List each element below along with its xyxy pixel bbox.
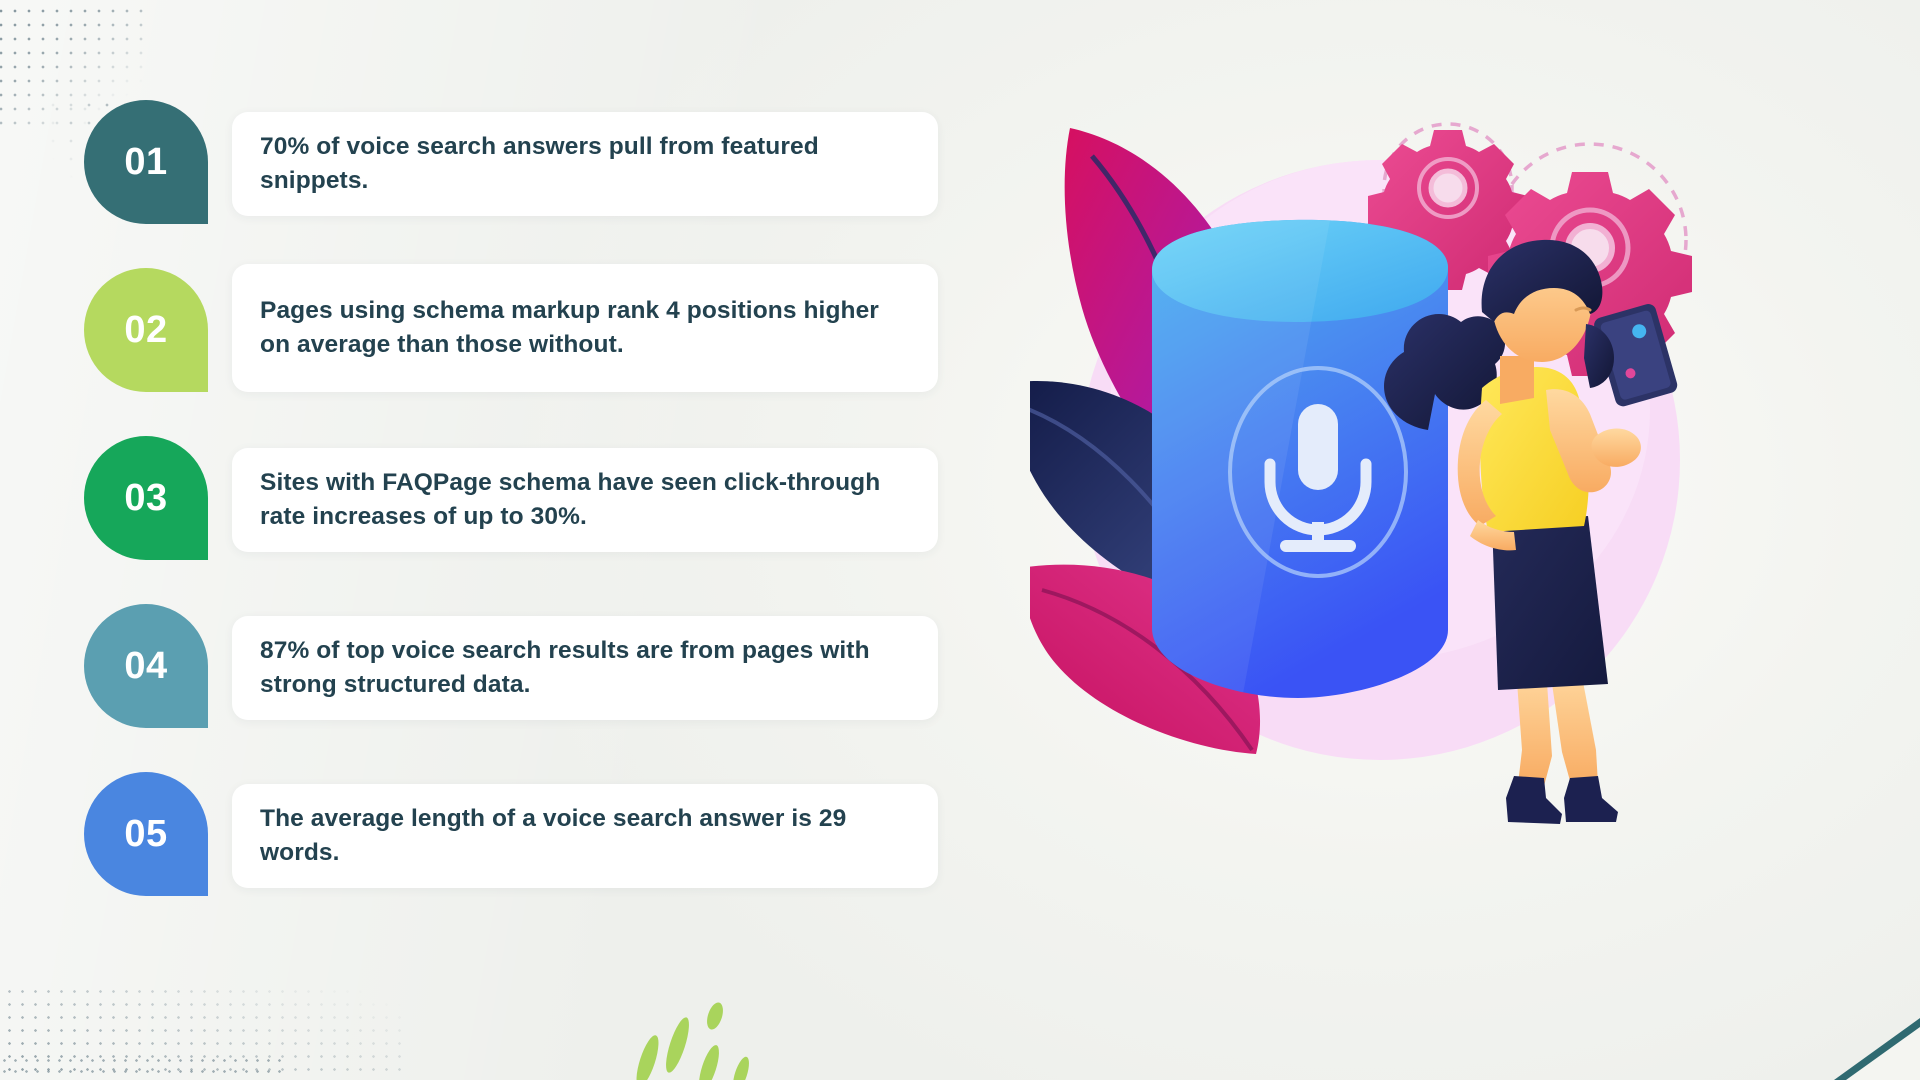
list-item-text: 70% of voice search answers pull from fe… <box>260 130 908 197</box>
list-item-number-badge: 02 <box>84 268 208 392</box>
shoe-back <box>1506 776 1562 824</box>
dot-grid-bottom-left-secondary-icon <box>0 1055 288 1080</box>
list-item-number: 04 <box>124 647 167 685</box>
list-item-number-badge: 04 <box>84 604 208 728</box>
list-item-number: 02 <box>124 311 167 349</box>
list-item-number-badge: 01 <box>84 100 208 224</box>
list-item-card: Pages using schema markup rank 4 positio… <box>232 264 938 392</box>
list-item-number-badge: 05 <box>84 772 208 896</box>
list-item: 01 70% of voice search answers pull from… <box>84 100 964 220</box>
list-item-text: 87% of top voice search results are from… <box>260 634 908 701</box>
list-item: 05 The average length of a voice search … <box>84 772 964 892</box>
list-item-number: 03 <box>124 479 167 517</box>
list-item-card: Sites with FAQPage schema have seen clic… <box>232 448 938 552</box>
list-item-text: Pages using schema markup rank 4 positio… <box>260 294 908 361</box>
list-item: 02 Pages using schema markup rank 4 posi… <box>84 268 964 388</box>
list-item-text: Sites with FAQPage schema have seen clic… <box>260 466 908 533</box>
corner-triangle-inner-decoration <box>1846 1027 1920 1080</box>
list-item-text: The average length of a voice search ans… <box>260 802 908 869</box>
shoe-front <box>1564 776 1618 822</box>
neck <box>1500 356 1534 404</box>
list-item-card: 70% of voice search answers pull from fe… <box>232 112 938 216</box>
list-item-number: 01 <box>124 143 167 181</box>
list-item-number-badge: 03 <box>84 436 208 560</box>
green-dashes-decoration <box>636 1000 766 1080</box>
voice-search-assistant-illustration <box>1030 70 1790 850</box>
list-item-number: 05 <box>124 815 167 853</box>
list-item-card: The average length of a voice search ans… <box>232 784 938 888</box>
list-item-card: 87% of top voice search results are from… <box>232 616 938 720</box>
list-item: 03 Sites with FAQPage schema have seen c… <box>84 436 964 556</box>
list-item: 04 87% of top voice search results are f… <box>84 604 964 724</box>
statistics-list: 01 70% of voice search answers pull from… <box>84 100 964 892</box>
voice-assistant-speaker <box>1152 220 1448 710</box>
